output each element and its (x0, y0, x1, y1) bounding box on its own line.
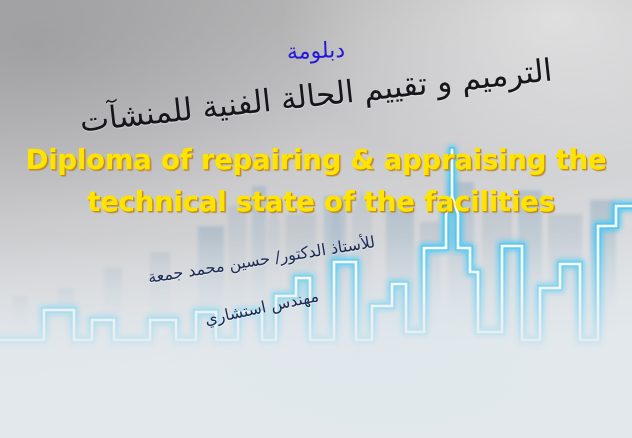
title-slide: دبلومة الترميم و تقييم الحالة الفنية للم… (0, 0, 632, 438)
background-bottom-haze (0, 237, 632, 438)
english-title: Diploma of repairing & appraising the te… (22, 140, 610, 224)
english-title-line-2: technical state of the facilities (22, 182, 610, 224)
english-title-line-1: Diploma of repairing & appraising the (22, 140, 610, 182)
